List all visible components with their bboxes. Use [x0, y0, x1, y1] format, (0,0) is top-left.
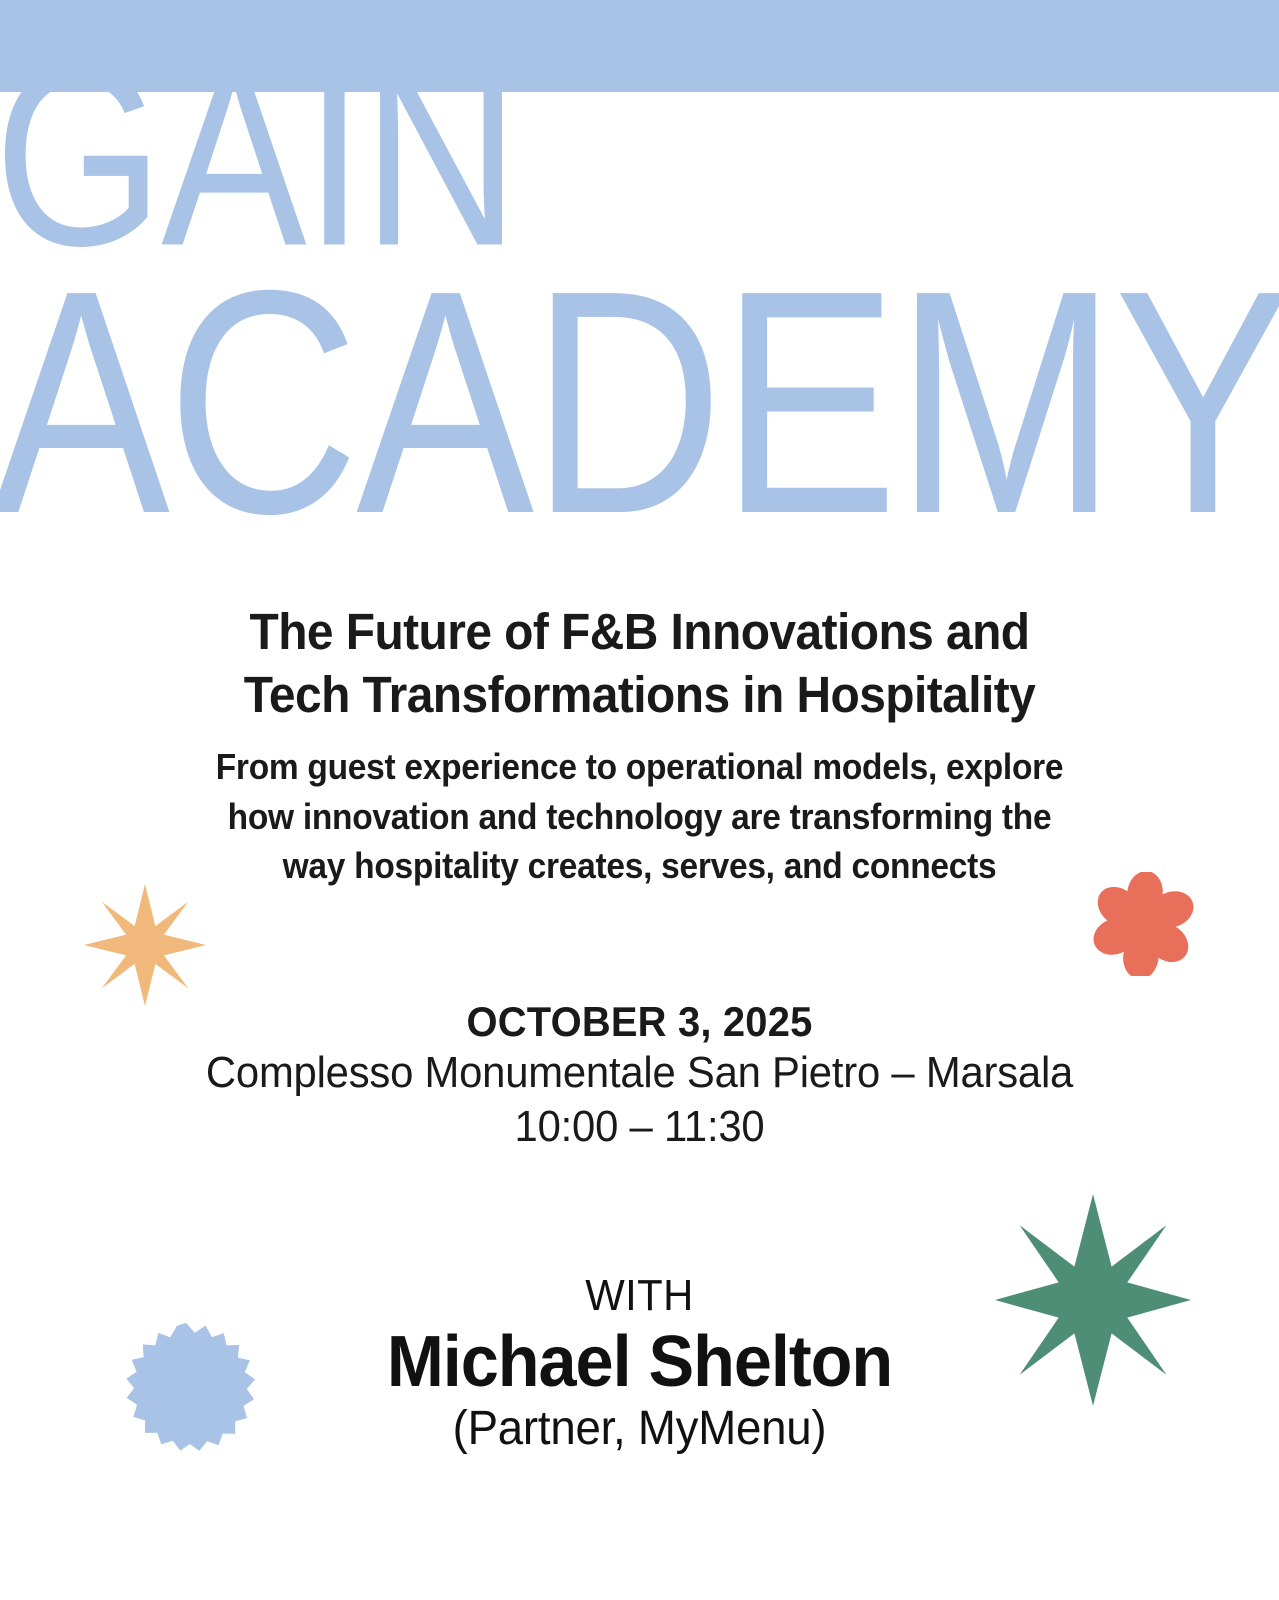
- subtitle-line-3: way hospitality creates, serves, and con…: [45, 841, 1234, 891]
- star-8point-orange-icon: [84, 884, 206, 1006]
- subtitle-line-1: From guest experience to operational mod…: [45, 742, 1234, 792]
- event-date: OCTOBER 3, 2025: [32, 998, 1247, 1046]
- headline-line-2: Tech Transformations in Hospitality: [38, 663, 1240, 726]
- scalloped-circle-blue-icon: [114, 1320, 258, 1462]
- star-8point-green-icon: [995, 1194, 1191, 1406]
- brand-logo: GAIN ACADEMY: [0, 0, 1279, 530]
- event-poster: GAIN ACADEMY The Future of F&B Innovatio…: [0, 0, 1279, 1600]
- event-time: 10:00 – 11:30: [32, 1100, 1247, 1154]
- page-title: The Future of F&B Innovations and Tech T…: [38, 600, 1240, 726]
- event-details: OCTOBER 3, 2025 Complesso Monumentale Sa…: [0, 998, 1279, 1153]
- subtitle: From guest experience to operational mod…: [45, 742, 1234, 891]
- event-venue: Complesso Monumentale San Pietro – Marsa…: [32, 1046, 1247, 1100]
- brand-wordmark-academy: ACADEMY: [0, 244, 1279, 562]
- flower-6petal-coral-icon: [1093, 872, 1197, 976]
- headline-line-1: The Future of F&B Innovations and: [38, 600, 1240, 663]
- subtitle-line-2: how innovation and technology are transf…: [45, 792, 1234, 842]
